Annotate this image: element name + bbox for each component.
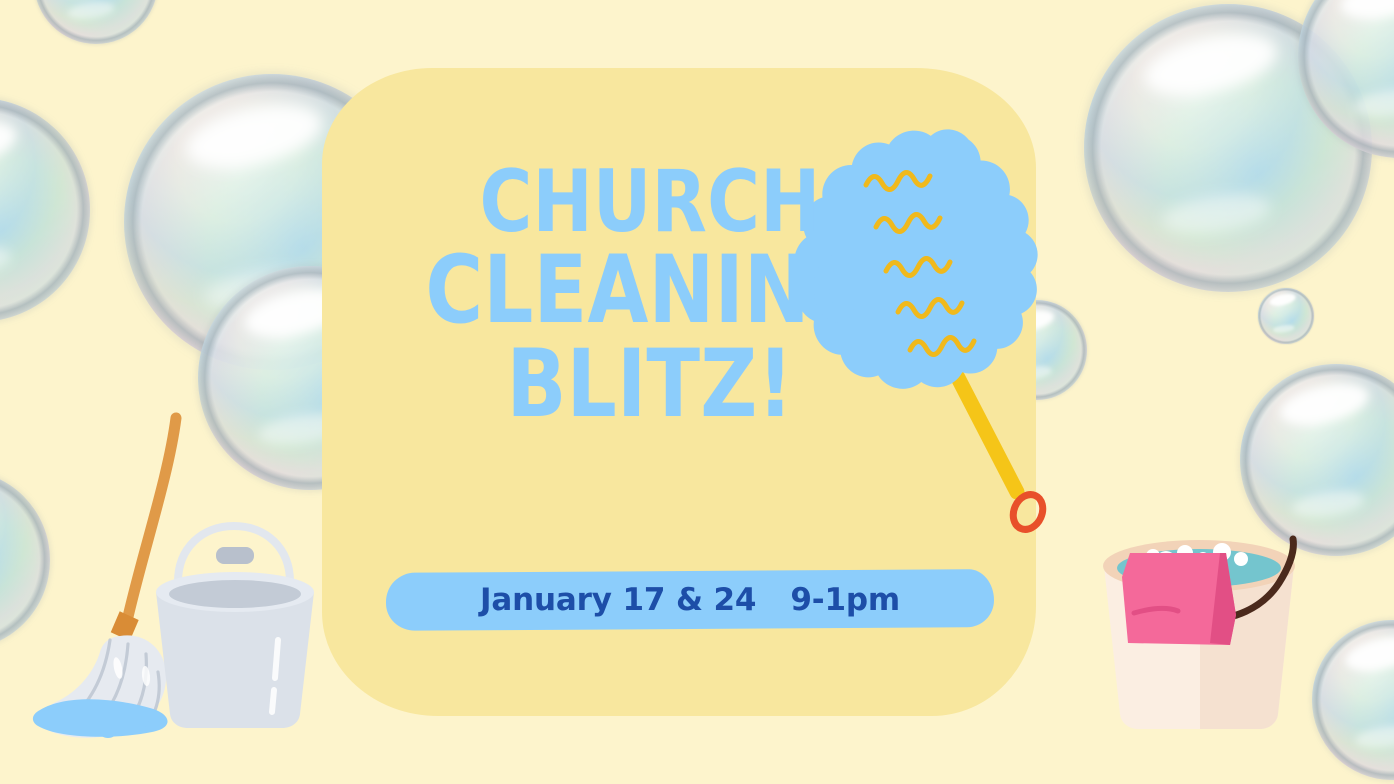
- text-layer: CHURCH CLEANING BLITZ! January 17 & 24 9…: [0, 0, 1394, 784]
- banner-text-row: January 17 & 24 9-1pm: [386, 571, 994, 629]
- banner-time: 9-1pm: [790, 582, 900, 618]
- poster-canvas: CHURCH CLEANING BLITZ! January 17 & 24 9…: [0, 0, 1394, 784]
- title-line-3: BLITZ!: [418, 341, 883, 429]
- title-line-1: CHURCH: [418, 162, 883, 243]
- date-time-banner: January 17 & 24 9-1pm: [386, 571, 994, 629]
- title-line-2: CLEANING: [418, 247, 883, 335]
- banner-dates: January 17 & 24: [480, 582, 756, 618]
- page-title: CHURCH CLEANING BLITZ!: [400, 162, 900, 430]
